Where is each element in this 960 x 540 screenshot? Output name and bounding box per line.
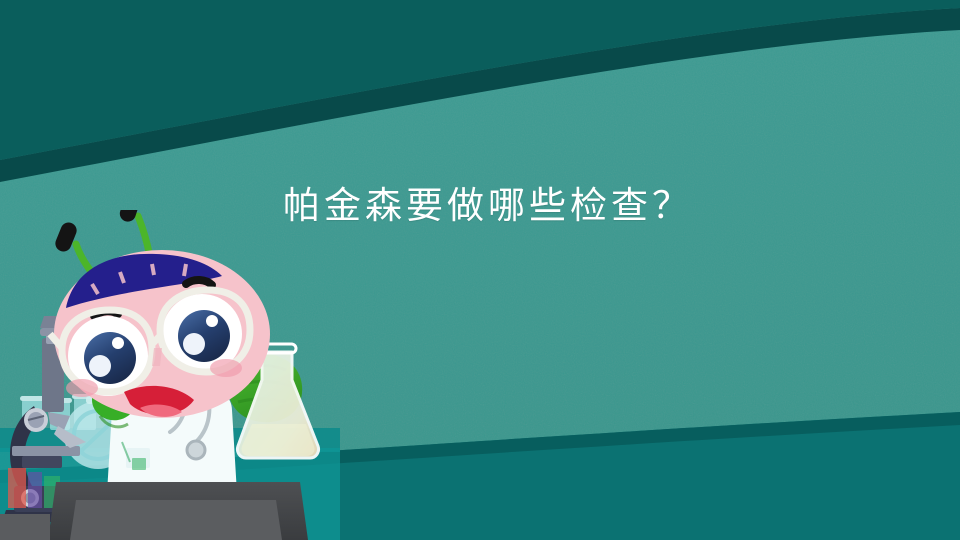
slide-canvas: 帕金森要做哪些检查？ bbox=[0, 0, 960, 540]
illustration-svg bbox=[0, 210, 340, 540]
illustration-scientist bbox=[0, 210, 340, 540]
slide-title: 帕金森要做哪些检查？ bbox=[283, 182, 843, 234]
character-head bbox=[50, 210, 270, 418]
